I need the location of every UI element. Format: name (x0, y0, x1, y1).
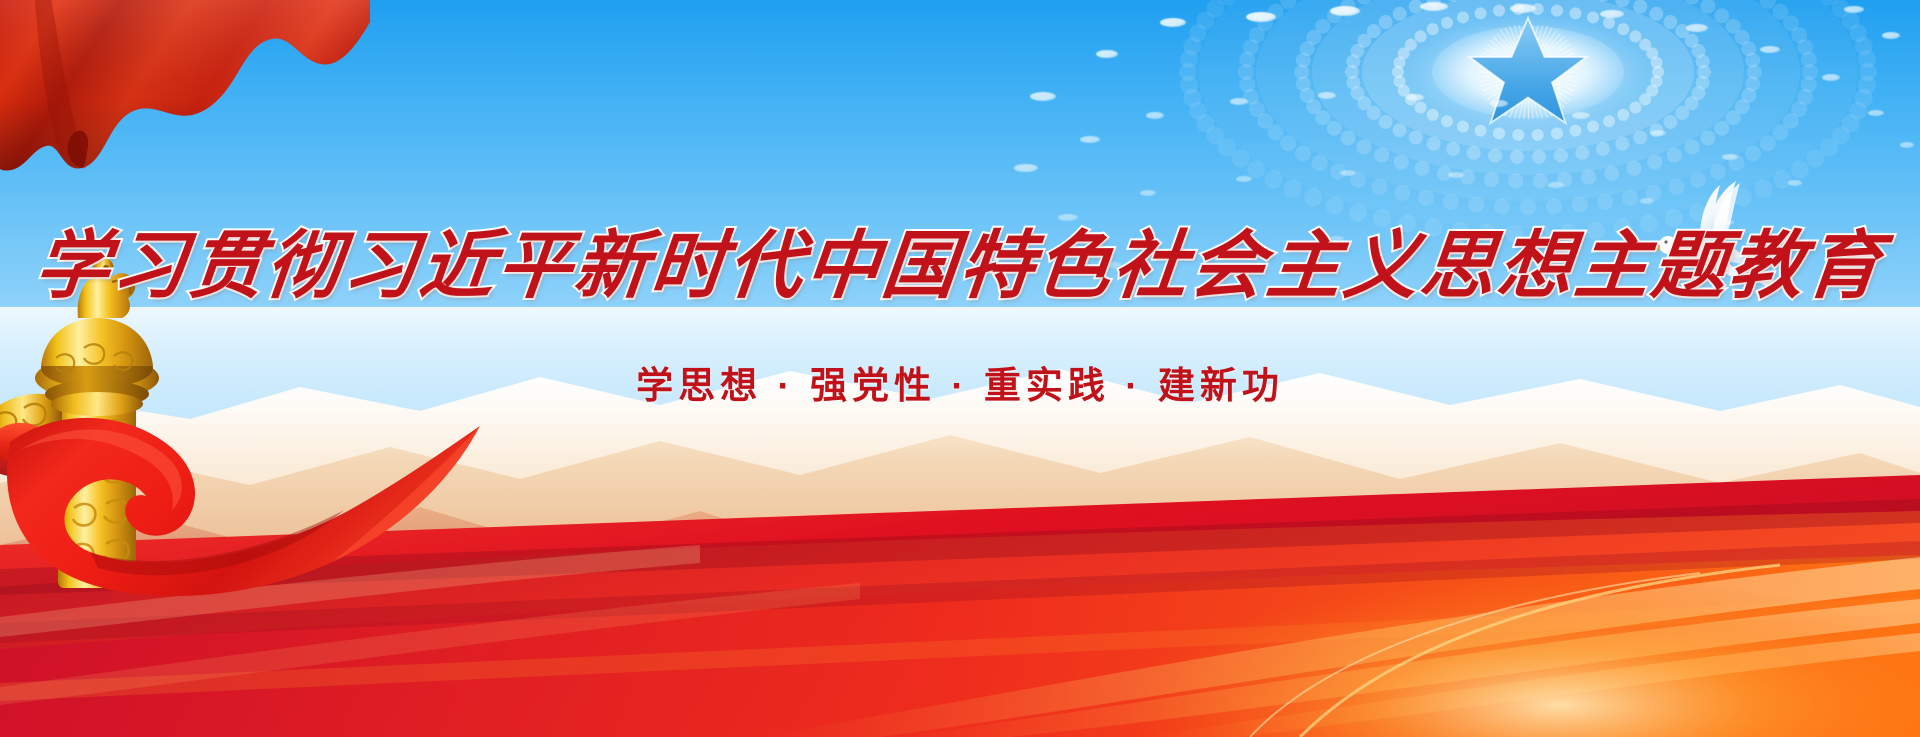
cloud-dot (1080, 136, 1100, 143)
waving-flag-icon (0, 0, 370, 192)
cloud-dot (1236, 176, 1252, 182)
cloud-dot (1420, 2, 1448, 11)
cloud-dot (1318, 92, 1336, 99)
cloud-dot (1868, 110, 1884, 116)
cloud-dot (1140, 190, 1156, 196)
cloud-dot (1330, 236, 1344, 241)
cloud-dot (1214, 244, 1228, 249)
cloud-dot (1014, 164, 1038, 172)
silk-ribbon-icon (0, 370, 540, 600)
cloud-dot (1030, 92, 1056, 101)
cloud-dot (1246, 12, 1276, 22)
red-flag (0, 0, 370, 197)
red-silk-ribbon (0, 370, 540, 605)
cloud-dot (1490, 100, 1508, 107)
cloud-dot (1572, 112, 1590, 119)
cloud-dot (1900, 142, 1914, 148)
cloud-dot (1548, 182, 1564, 188)
cloud-dot (1160, 18, 1186, 27)
cloud-dot (1510, 4, 1536, 13)
cloud-dot (1406, 94, 1424, 101)
cloud-dot (1844, 6, 1864, 13)
cloud-dot (1448, 172, 1464, 178)
cloud-dot (1686, 24, 1708, 32)
cloud-dot (1722, 154, 1738, 160)
cloud-dot (1096, 50, 1118, 58)
cloud-dot (1882, 32, 1900, 39)
cloud-dot (1146, 112, 1164, 119)
cloud-dot (1330, 6, 1360, 16)
cloud-dot (1650, 130, 1666, 136)
dove-icon (1650, 175, 1800, 295)
cloud-dot (1760, 46, 1780, 53)
peace-dove (1650, 175, 1800, 300)
stone-beast-icon (78, 258, 135, 318)
cloud-dot (1058, 214, 1078, 221)
propaganda-banner: 学习贯彻习近平新时代中国特色社会主义思想主题教育 学思想 · 强党性 · 重实践… (0, 0, 1920, 737)
cloud-dot (1560, 252, 1574, 257)
cloud-dot (1600, 10, 1624, 18)
cloud-dot (1340, 170, 1356, 176)
cloud-dot (1230, 98, 1248, 105)
cloud-dot (1822, 74, 1840, 81)
cloud-dot (1106, 262, 1122, 268)
cloud-dot (1450, 240, 1464, 245)
